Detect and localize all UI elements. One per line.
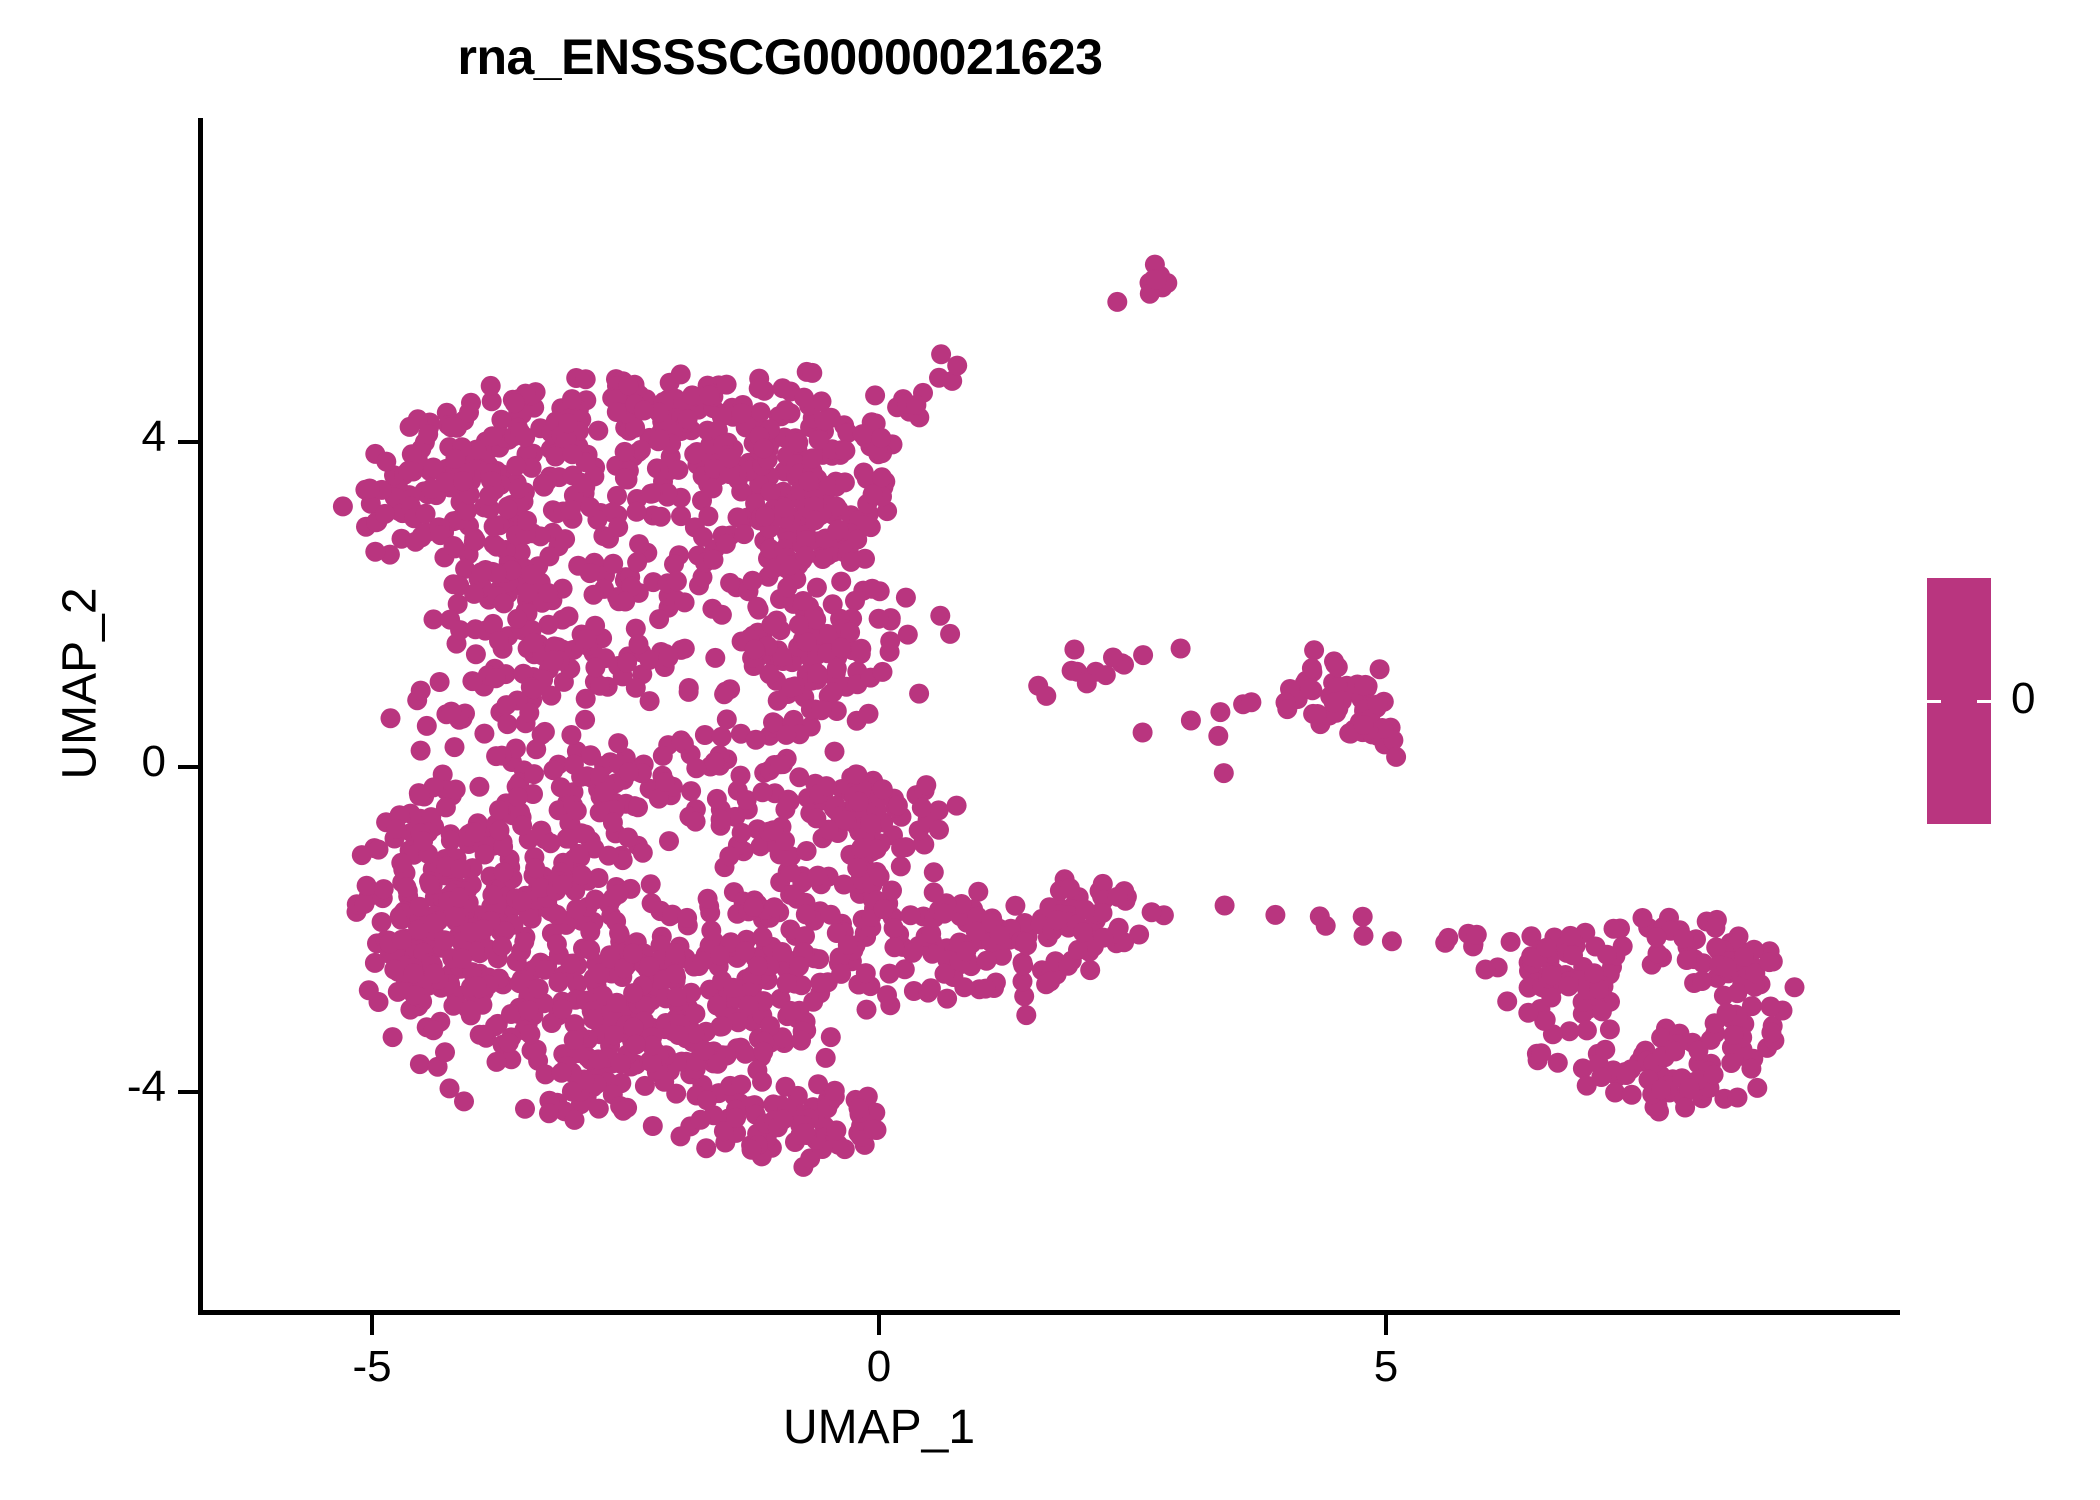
y-tick-mark-4 — [178, 440, 198, 444]
y-tick-mark--4 — [178, 1090, 198, 1094]
y-tick-label-0: 0 — [142, 737, 166, 787]
x-tick-label-0: 0 — [867, 1342, 891, 1392]
colorbar-tick-left — [1927, 700, 1941, 703]
y-tick-mark-0 — [178, 765, 198, 769]
y-axis-line — [198, 118, 203, 1314]
colorbar-tick-label-0: 0 — [2011, 674, 2035, 724]
x-tick-mark-5 — [1384, 1315, 1388, 1335]
x-axis-title: UMAP_1 — [198, 1400, 1560, 1455]
scatter-plot-figure: rna_ENSSSCG00000021623 4 0 -4 -5 0 5 UMA… — [0, 0, 2100, 1500]
x-tick-label-5: 5 — [1374, 1342, 1398, 1392]
x-tick-mark--5 — [370, 1315, 374, 1335]
colorbar-tick-right — [1977, 700, 1991, 703]
x-tick-mark-0 — [877, 1315, 881, 1335]
y-tick-label-4: 4 — [142, 412, 166, 462]
x-tick-label--5: -5 — [352, 1342, 391, 1392]
colorbar-legend[interactable]: 0 — [1927, 578, 1991, 824]
scatter-points-layer — [0, 0, 2100, 1500]
y-tick-label--4: -4 — [127, 1062, 166, 1112]
plot-panel: 4 0 -4 -5 0 5 UMAP_1 UMAP_2 0 — [0, 0, 2100, 1500]
x-axis-line — [198, 1310, 1900, 1315]
y-axis-title: UMAP_2 — [53, 304, 108, 1064]
